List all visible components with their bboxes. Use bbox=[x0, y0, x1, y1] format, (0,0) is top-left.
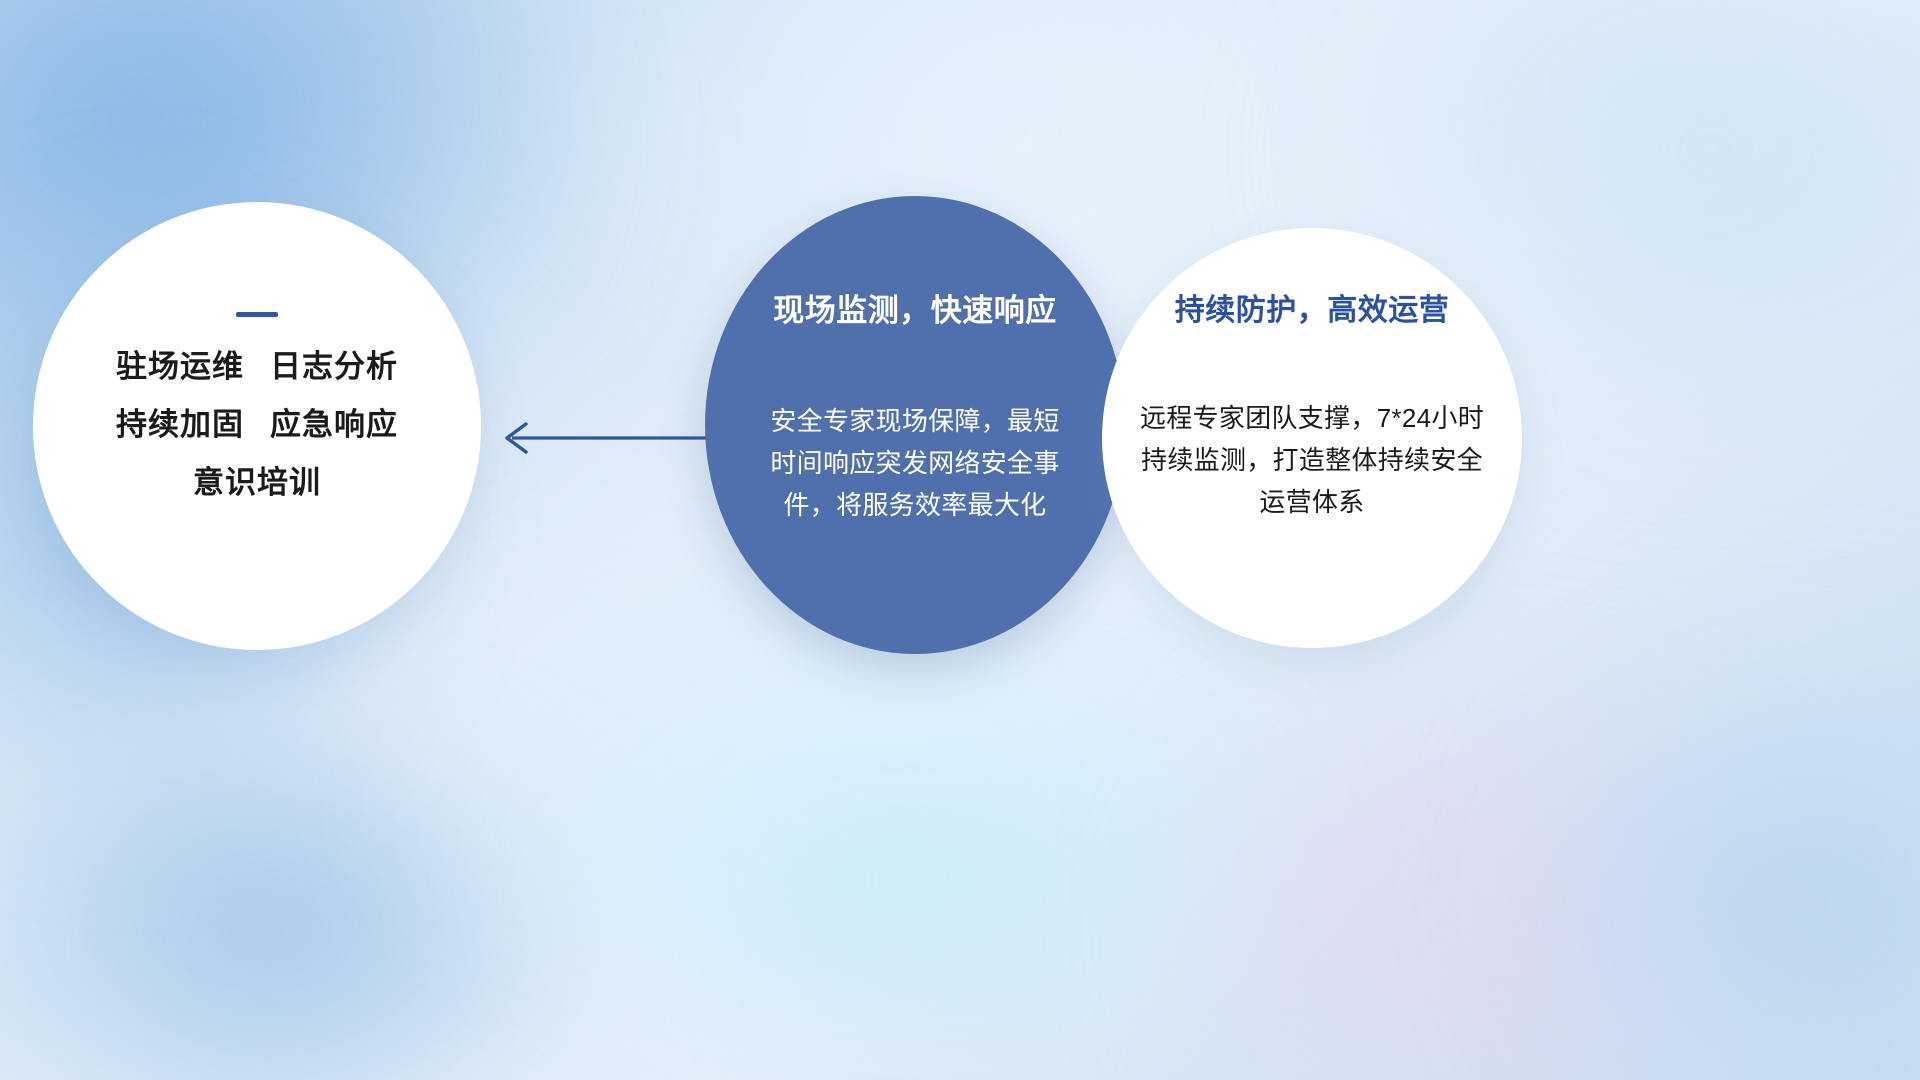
background-glow-center-cyan bbox=[560, 700, 1260, 1060]
onsite-monitoring-body: 安全专家现场保障，最短时间响应突发网络安全事件，将服务效率最大化 bbox=[765, 400, 1065, 526]
capability-label: 驻场运维 bbox=[116, 349, 244, 384]
capability-label: 日志分析 bbox=[270, 349, 398, 384]
background-glow-pink bbox=[1180, 690, 1800, 1080]
continuous-protection-title: 持续防护，高效运营 bbox=[1175, 294, 1450, 327]
continuous-protection-circle[interactable]: 持续防护，高效运营 远程专家团队支撑，7*24小时持续监测，打造整体持续安全运营… bbox=[1102, 228, 1522, 648]
list-item: 持续加固应急响应 bbox=[33, 409, 481, 440]
onsite-monitoring-circle[interactable]: 现场监测，快速响应 安全专家现场保障，最短时间响应突发网络安全事件，将服务效率最… bbox=[705, 196, 1125, 654]
list-item: 意识培训 bbox=[33, 467, 481, 498]
list-item: 驻场运维日志分析 bbox=[33, 351, 481, 382]
onsite-monitoring-title: 现场监测，快速响应 bbox=[773, 294, 1057, 328]
background-glow-bottom-right bbox=[1540, 640, 1920, 1080]
capabilities-circle[interactable]: 驻场运维日志分析 持续加固应急响应 意识培训 bbox=[33, 202, 481, 650]
background-glow-bottom-left bbox=[0, 760, 620, 1080]
capability-label: 持续加固 bbox=[116, 407, 244, 442]
leftward-arrow-icon bbox=[496, 418, 726, 458]
capability-label: 意识培训 bbox=[193, 465, 321, 500]
capabilities-list: 驻场运维日志分析 持续加固应急响应 意识培训 bbox=[33, 351, 481, 498]
continuous-protection-body: 远程专家团队支撑，7*24小时持续监测，打造整体持续安全运营体系 bbox=[1134, 397, 1490, 523]
connector-arrow bbox=[496, 418, 726, 458]
blue-dash-accent-icon bbox=[236, 312, 278, 317]
capability-label: 应急响应 bbox=[270, 407, 398, 442]
slide-canvas: 驻场运维日志分析 持续加固应急响应 意识培训 现场监测，快速响应 安全专家现场保… bbox=[0, 0, 1920, 1080]
